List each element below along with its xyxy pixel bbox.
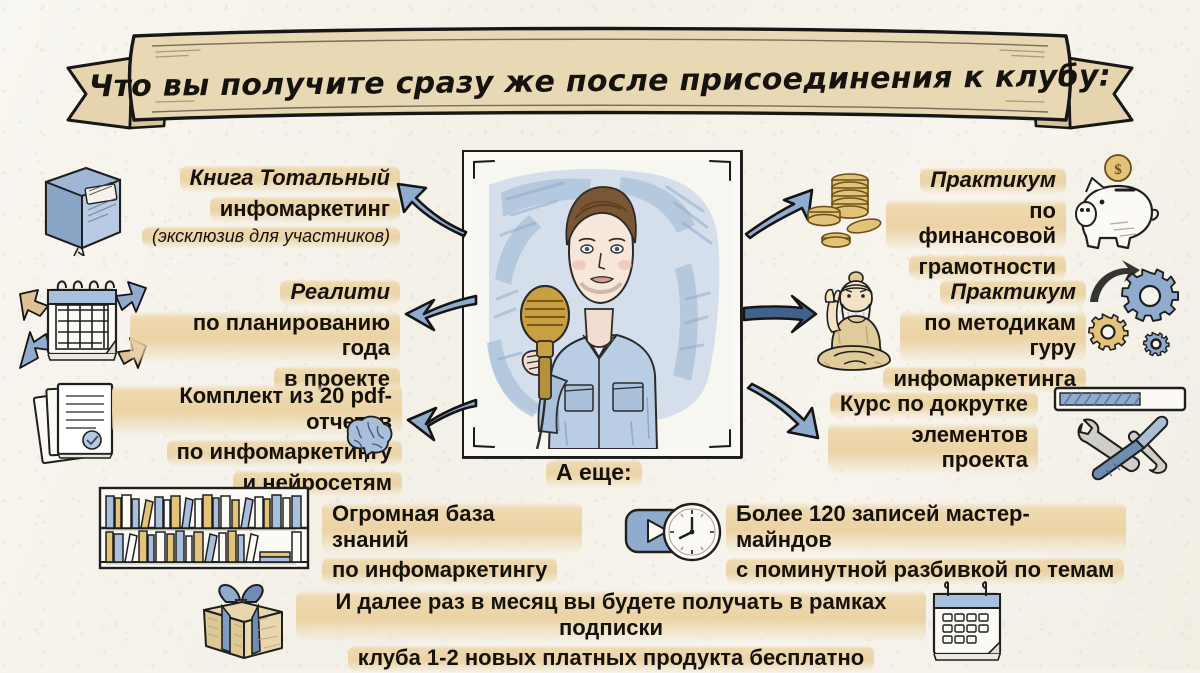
desk-calendar-icon xyxy=(922,580,1014,662)
sketch-frame-corners xyxy=(464,152,740,456)
arrow-left-blue-icon xyxy=(402,290,478,338)
item-line: Практикум xyxy=(940,278,1086,307)
also-bookshelf-icon-wrap xyxy=(96,486,312,570)
right-item-guru-text: Практикум по методикам гуру инфомаркетин… xyxy=(900,278,1086,393)
right-item-guru-icon-wrap xyxy=(804,268,900,374)
play-button-clock-icon xyxy=(624,500,724,564)
left-item-reality-text: Реалити по планированию года в проекте xyxy=(130,278,400,393)
page-title: Что вы получите сразу же после присоедин… xyxy=(59,20,1140,141)
left-item-calendar-icon-wrap xyxy=(18,272,148,376)
item-line: Реалити xyxy=(280,278,400,307)
also-heading-wrap: А еще: xyxy=(546,458,642,488)
also-mastermind-text: Более 120 записей мастер-майндов с помин… xyxy=(726,500,1126,585)
item-line: Курс по докрутке xyxy=(830,390,1038,419)
also-heading: А еще: xyxy=(546,458,642,488)
footer-text: И далее раз в месяц вы будете получать в… xyxy=(296,588,926,673)
left-item-book-icon-wrap xyxy=(28,160,128,256)
item-line: клуба 1-2 новых платных продукта бесплат… xyxy=(348,644,874,673)
also-video-icon-wrap xyxy=(624,500,724,564)
item-line: по финансовой xyxy=(886,197,1066,251)
svg-text:$: $ xyxy=(1114,162,1122,178)
progress-bar-icon xyxy=(1052,384,1188,414)
right-item-coins-icon-wrap xyxy=(806,168,886,250)
arrow-right-blue-icon xyxy=(744,382,824,444)
arrow-left-blue-icon xyxy=(392,178,472,240)
item-line: Огромная база знаний xyxy=(322,500,582,554)
right-item-piggy-icon-wrap: $ xyxy=(1056,152,1166,252)
also-knowledge-base-text: Огромная база знаний по инфомаркетингу xyxy=(322,500,582,585)
guru-meditating-icon xyxy=(804,268,900,374)
item-line: Практикум xyxy=(920,166,1066,195)
stack-of-documents-icon xyxy=(32,376,124,468)
bookshelf-icon xyxy=(96,486,312,570)
footer-calendar-icon-wrap xyxy=(922,580,1014,662)
gears-icon xyxy=(1084,258,1192,368)
piggy-bank-icon: $ xyxy=(1056,152,1166,252)
blue-book-icon xyxy=(28,160,128,256)
item-line: Более 120 записей мастер-майндов xyxy=(726,500,1126,554)
right-item-course-text: Курс по докрутке элементов проекта xyxy=(828,390,1038,475)
right-item-finance-text: Практикум по финансовой грамотности xyxy=(886,166,1066,281)
footer-gift-icon-wrap xyxy=(196,580,290,662)
header-ribbon-banner: Что вы получите сразу же после присоедин… xyxy=(60,24,1140,134)
gift-box-icon xyxy=(196,580,290,662)
center-portrait-card xyxy=(462,150,742,458)
item-line: грамотности xyxy=(909,253,1066,282)
item-line: по планированию года xyxy=(130,309,400,363)
left-item-docs-icon-wrap xyxy=(32,376,124,468)
item-line: (эксклюзив для участников) xyxy=(142,225,400,249)
left-item-book-text: Книга Тотальный инфомаркетинг (эксклюзив… xyxy=(140,164,400,249)
item-line: Книга Тотальный xyxy=(180,164,400,193)
item-line: элементов проекта xyxy=(828,421,1038,475)
wrench-screwdriver-icon xyxy=(1072,412,1172,482)
brain-icon xyxy=(336,412,398,462)
item-line: И далее раз в месяц вы будете получать в… xyxy=(296,588,926,642)
arrow-left-blue-icon xyxy=(406,394,478,448)
right-item-gears-icon-wrap xyxy=(1084,258,1192,368)
item-line: по методикам гуру xyxy=(900,309,1086,363)
item-line: инфомаркетинг xyxy=(210,195,400,224)
stack-of-coins-icon xyxy=(806,168,886,250)
item-line: по инфомаркетингу xyxy=(322,556,557,585)
spiral-calendar-icon xyxy=(18,272,148,376)
